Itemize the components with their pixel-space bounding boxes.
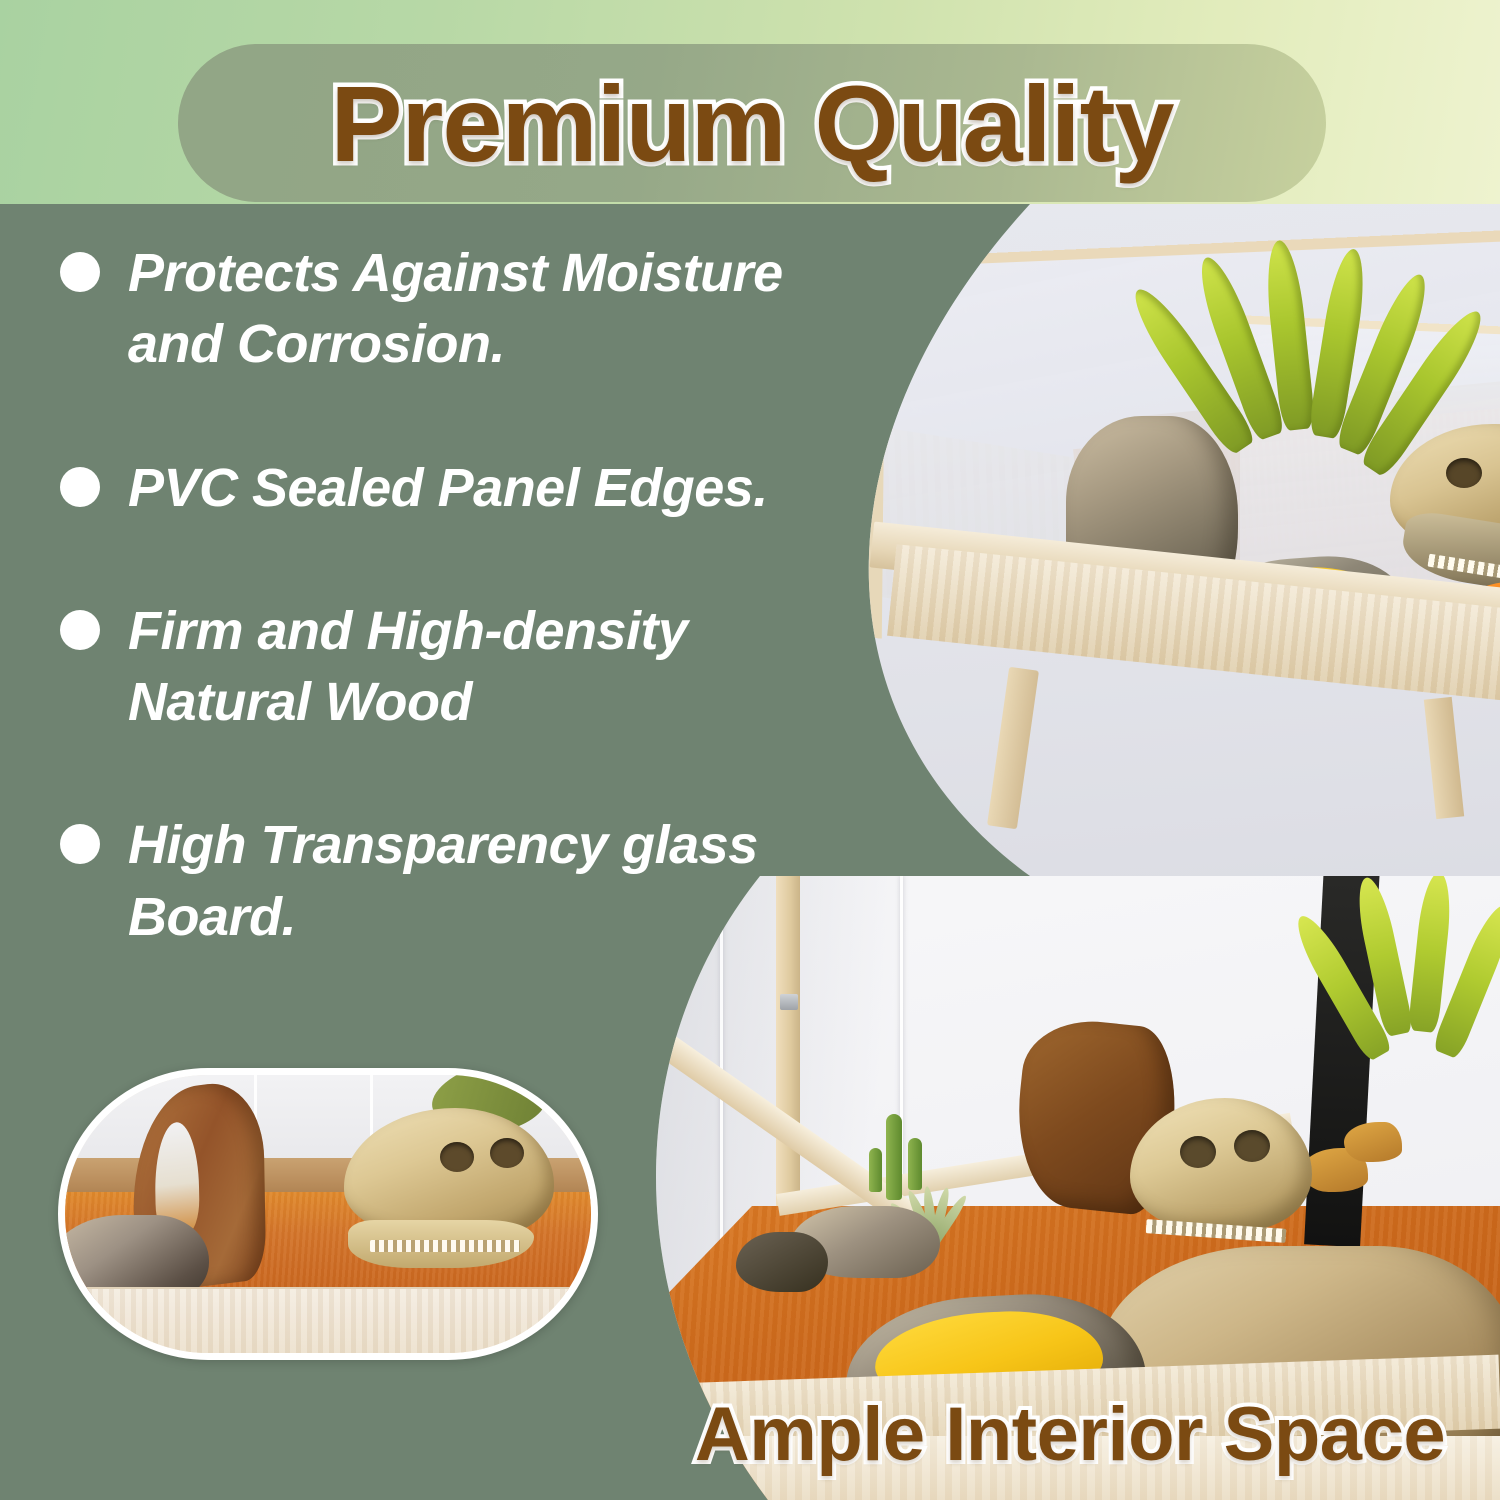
bullet-dot-icon [60,610,100,650]
terrarium-cabinet [830,228,1500,788]
list-item: High Transparency glass Board. [60,810,890,953]
list-item: Protects Against Moisture and Corrosion. [60,238,890,381]
wood-base [65,1287,591,1353]
bullet-dot-icon [60,467,100,507]
bullet-dot-icon [60,252,100,292]
feature-label: Protects Against Moisture and Corrosion. [128,238,858,381]
cabinet-leg-right [1424,697,1464,819]
feature-label: PVC Sealed Panel Edges. [128,453,768,524]
product-feature-infographic: Premium Quality [0,0,1500,1500]
cabinet-leg-left [987,667,1039,830]
dark-rock-decor [736,1232,828,1292]
feature-label: Firm and High-density Natural Wood [128,596,858,739]
list-item: PVC Sealed Panel Edges. [60,453,890,524]
feature-label: High Transparency glass Board. [128,810,858,953]
photo-caption: Ample Interior Space [640,1382,1500,1486]
list-item: Firm and High-density Natural Wood [60,596,890,739]
bullet-dot-icon [60,824,100,864]
feature-list: Protects Against Moisture and Corrosion.… [60,238,890,1025]
page-title: Premium Quality [178,44,1326,202]
cactus-decor-arm-left [869,1148,882,1192]
closeup-terrarium-interior-photo [58,1068,598,1360]
